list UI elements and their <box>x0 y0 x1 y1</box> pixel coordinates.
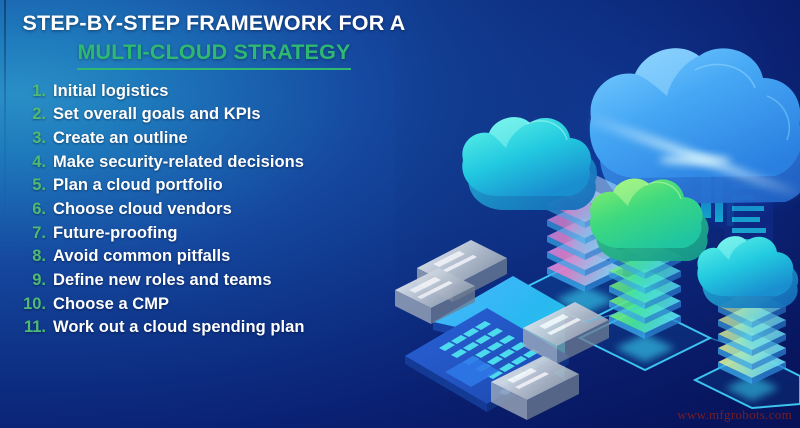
step-label: Future-proofing <box>53 224 177 243</box>
infographic-canvas: STEP-BY-STEP FRAMEWORK FOR A MULTI-CLOUD… <box>0 0 800 428</box>
multi-cloud-illustration <box>395 0 800 428</box>
step-item: 4.Make security-related decisions <box>20 153 420 172</box>
page-title-line1: STEP-BY-STEP FRAMEWORK FOR A <box>18 10 410 37</box>
step-item: 1.Initial logistics <box>20 82 420 101</box>
step-number: 6. <box>20 200 46 219</box>
step-number: 2. <box>20 105 46 124</box>
step-item: 9.Define new roles and teams <box>20 271 420 290</box>
step-number: 9. <box>20 271 46 290</box>
step-number: 4. <box>20 153 46 172</box>
step-item: 10.Choose a CMP <box>20 295 420 314</box>
title-block: STEP-BY-STEP FRAMEWORK FOR A MULTI-CLOUD… <box>0 0 420 70</box>
watermark: www.mfgrobots.com <box>677 407 792 423</box>
step-number: 8. <box>20 247 46 266</box>
step-number: 3. <box>20 129 46 148</box>
step-label: Avoid common pitfalls <box>53 247 230 266</box>
text-column: STEP-BY-STEP FRAMEWORK FOR A MULTI-CLOUD… <box>0 0 420 428</box>
step-label: Set overall goals and KPIs <box>53 105 261 124</box>
step-item: 11.Work out a cloud spending plan <box>20 318 420 337</box>
step-number: 11. <box>20 318 46 337</box>
step-label: Choose a CMP <box>53 295 169 314</box>
step-label: Make security-related decisions <box>53 153 304 172</box>
step-item: 7.Future-proofing <box>20 224 420 243</box>
step-number: 5. <box>20 176 46 195</box>
step-label: Initial logistics <box>53 82 168 101</box>
step-label: Define new roles and teams <box>53 271 272 290</box>
step-number: 1. <box>20 82 46 101</box>
step-item: 2.Set overall goals and KPIs <box>20 105 420 124</box>
steps-list: 1.Initial logistics2.Set overall goals a… <box>0 82 420 338</box>
step-label: Work out a cloud spending plan <box>53 318 304 337</box>
step-label: Choose cloud vendors <box>53 200 232 219</box>
step-item: 6.Choose cloud vendors <box>20 200 420 219</box>
step-item: 8.Avoid common pitfalls <box>20 247 420 266</box>
step-item: 5.Plan a cloud portfolio <box>20 176 420 195</box>
step-label: Plan a cloud portfolio <box>53 176 223 195</box>
step-number: 7. <box>20 224 46 243</box>
step-number: 10. <box>20 295 46 314</box>
step-item: 3.Create an outline <box>20 129 420 148</box>
page-title-line2: MULTI-CLOUD STRATEGY <box>77 39 350 70</box>
step-label: Create an outline <box>53 129 188 148</box>
